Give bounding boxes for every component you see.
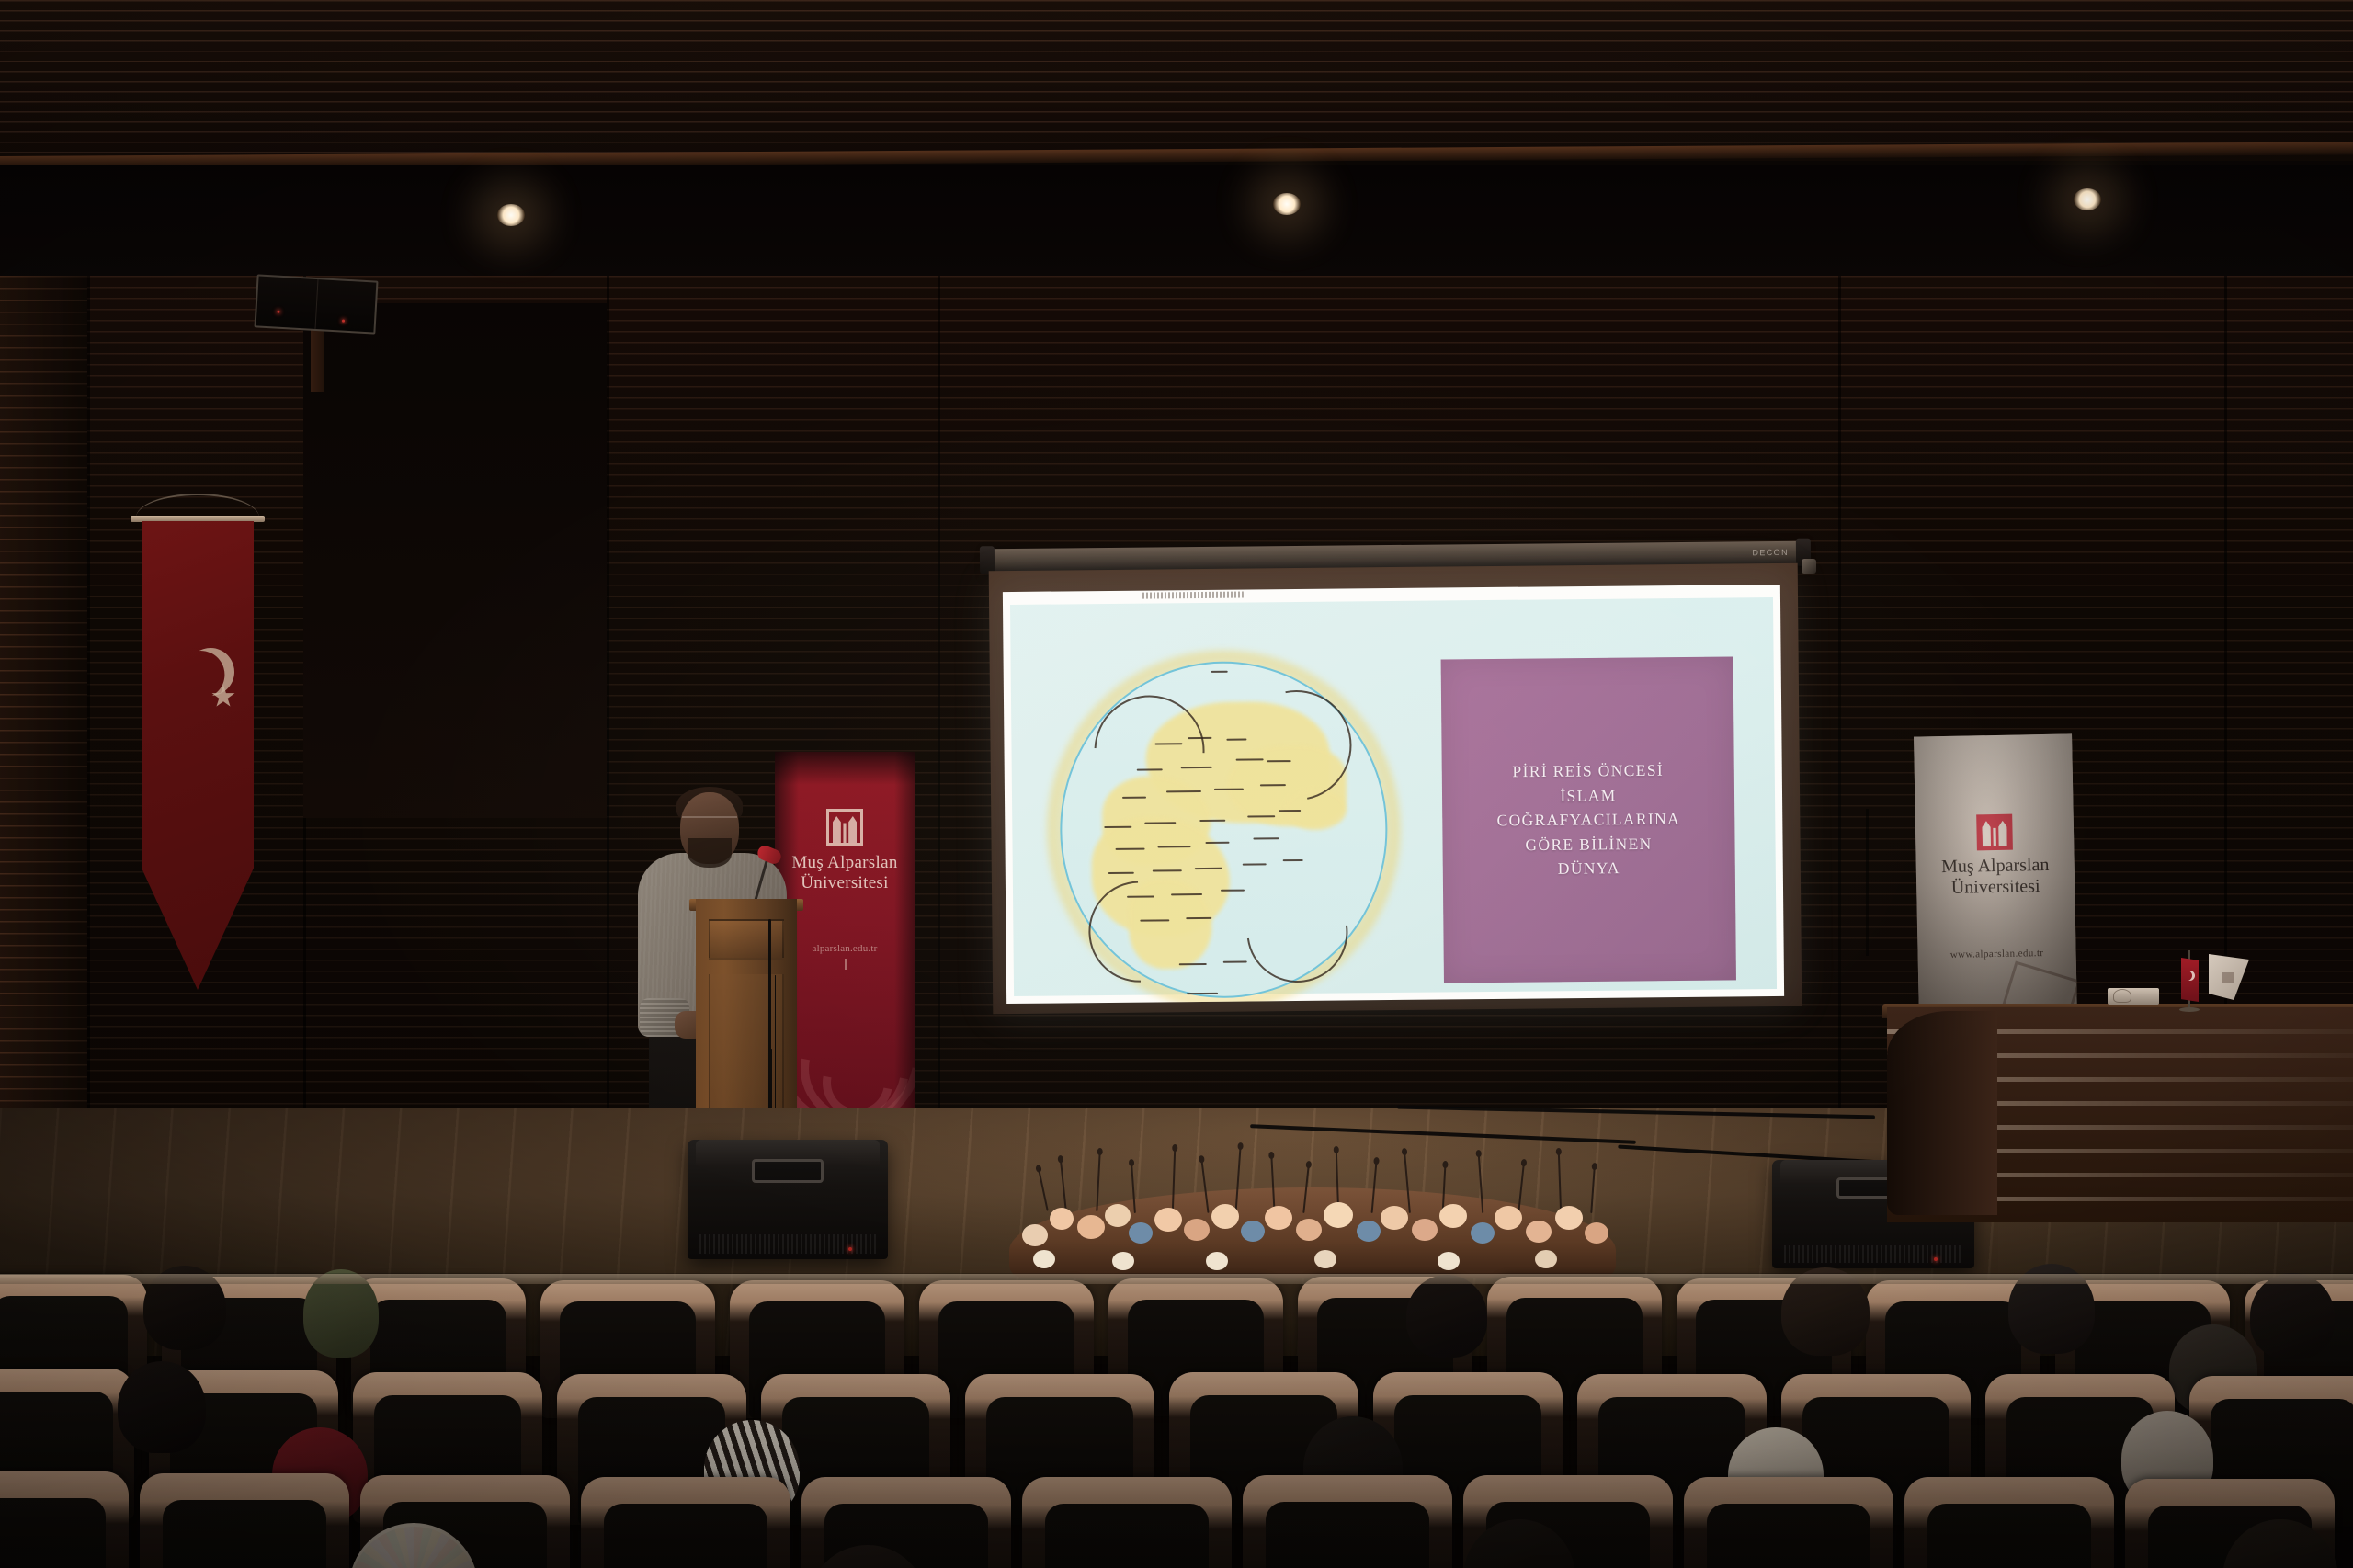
seat[interactable] <box>140 1473 349 1568</box>
flag-hanging-cord <box>136 494 259 517</box>
seat[interactable] <box>0 1471 129 1568</box>
flower-bloom <box>1412 1219 1438 1241</box>
panel-seam <box>314 279 318 329</box>
map-annotation <box>1214 789 1244 790</box>
flower-bloom <box>1381 1206 1408 1230</box>
map-annotation <box>1188 737 1211 739</box>
slide-top-artifact <box>1142 592 1244 599</box>
map-annotation <box>1158 846 1191 847</box>
seat[interactable] <box>1243 1475 1452 1568</box>
crescent-icon <box>181 642 240 701</box>
slide-title-line-2: İSLAM <box>1442 782 1734 810</box>
map-annotation <box>1195 868 1222 869</box>
audience-head <box>1406 1275 1487 1358</box>
ceiling-wood-slats <box>0 0 2353 161</box>
crest-icon <box>2113 989 2131 1003</box>
flower-bloom <box>1265 1206 1292 1230</box>
seat[interactable] <box>801 1477 1011 1568</box>
map-annotation <box>1279 810 1301 812</box>
map-annotation <box>1221 890 1245 892</box>
flower-bloom <box>1105 1204 1131 1227</box>
seat[interactable] <box>1022 1477 1232 1568</box>
wall-seam <box>87 276 90 1131</box>
map-annotation <box>1104 826 1131 828</box>
flower-bloom <box>1033 1250 1055 1268</box>
slide-canvas: PİRİ REİS ÖNCESİ İSLAM COĞRAFYACILARINA … <box>1010 597 1777 996</box>
map-annotation <box>1236 758 1264 760</box>
audience-head <box>2250 1273 2335 1359</box>
panel-led-indicator <box>342 320 345 323</box>
housing-end-cap <box>980 546 995 574</box>
flower-bloom <box>1050 1208 1074 1230</box>
desk-flag-base <box>2179 1007 2200 1012</box>
map-annotation <box>1223 961 1247 963</box>
flower-bloom <box>1314 1250 1336 1268</box>
flower-bloom <box>1184 1219 1210 1241</box>
flower-bloom <box>1357 1221 1381 1242</box>
wall-cable <box>1866 809 1869 956</box>
flower-bloom <box>1526 1221 1552 1243</box>
flower-bloom <box>1471 1222 1495 1244</box>
map-annotation <box>1154 743 1182 744</box>
slide-title-line-1: PİRİ REİS ÖNCESİ <box>1442 757 1734 785</box>
desk-flag-turkish <box>2181 958 2199 1002</box>
map-annotation <box>1283 859 1303 861</box>
flower-bloom <box>1296 1219 1322 1241</box>
glasses-icon <box>682 816 737 826</box>
microphone-cable <box>768 919 771 1140</box>
slide-title-block: PİRİ REİS ÖNCESİ İSLAM COĞRAFYACILARINA … <box>1441 656 1736 983</box>
flower-bloom <box>1535 1250 1557 1268</box>
flower-bloom <box>1555 1206 1583 1230</box>
map-annotation <box>1243 863 1267 865</box>
seat[interactable] <box>1684 1477 1893 1568</box>
ceiling-recess <box>0 165 2353 285</box>
ceiling-spotlight <box>1273 193 1301 215</box>
map-annotation <box>1186 917 1211 919</box>
flower-bloom <box>1154 1208 1182 1232</box>
flower-bloom <box>1022 1224 1048 1246</box>
map-annotation <box>1122 797 1146 799</box>
ceiling-spotlight <box>497 204 525 226</box>
map-annotation <box>1171 893 1202 895</box>
panel-led-indicator <box>277 311 279 313</box>
wall-seam <box>1838 276 1841 1131</box>
desk-curved-end <box>1887 1011 1997 1215</box>
banner-tick <box>845 959 847 970</box>
map-annotation <box>1253 837 1279 839</box>
projector-screen-brand: DECON <box>1752 548 1789 557</box>
flower-bloom <box>1206 1252 1228 1270</box>
audience-head <box>118 1361 206 1453</box>
banner-white-university: Muş Alparslan Üniversitesi www.alparslan… <box>1914 733 2077 1021</box>
presenter-beard <box>688 838 732 868</box>
wall-av-panel <box>254 274 378 334</box>
map-annotation <box>1166 790 1201 792</box>
seat[interactable] <box>581 1477 790 1568</box>
map-annotation <box>1267 760 1291 762</box>
projector-mount-icon <box>1802 559 1816 574</box>
wall-seam <box>2224 276 2227 1131</box>
turkish-flag-pennant <box>129 494 267 1008</box>
podium-front-panel <box>709 919 784 960</box>
map-annotation <box>1199 820 1225 822</box>
flower-bloom <box>1439 1204 1467 1228</box>
flower-bloom <box>1211 1204 1239 1229</box>
map-annotation <box>1181 767 1212 768</box>
audience-seating <box>0 1273 2353 1568</box>
wall-seam <box>607 276 609 1131</box>
slide-title-text: PİRİ REİS ÖNCESİ İSLAM COĞRAFYACILARINA … <box>1442 757 1735 882</box>
flower-bloom <box>1112 1252 1134 1270</box>
map-annotation <box>1140 919 1169 921</box>
slide-title-line-5: DÜNYA <box>1443 855 1735 882</box>
flower-bloom <box>1241 1221 1265 1242</box>
slide-title-line-3: COĞRAFYACILARINA <box>1442 806 1734 834</box>
stage-monitor-speaker <box>688 1140 888 1259</box>
stage-front-edge <box>0 1274 2353 1284</box>
flower-bloom <box>1077 1215 1105 1239</box>
map-annotation <box>1108 872 1134 874</box>
flower-bloom <box>1585 1222 1608 1244</box>
wall-recess <box>303 303 607 818</box>
flower-bloom <box>1129 1222 1153 1244</box>
map-annotation <box>1226 739 1246 741</box>
map-annotation <box>1211 671 1228 673</box>
wall-panel-mount <box>311 329 324 392</box>
desk-plaque-box <box>2108 988 2159 1005</box>
islamic-world-map-illustration <box>1046 649 1403 1004</box>
flower-bloom <box>1438 1252 1460 1270</box>
seat[interactable] <box>1904 1477 2114 1568</box>
crescent-icon <box>2185 971 2195 981</box>
map-annotation <box>1187 993 1218 994</box>
projected-slide: PİRİ REİS ÖNCESİ İSLAM COĞRAFYACILARINA … <box>1003 585 1784 1004</box>
university-logo-icon <box>2222 972 2234 983</box>
speaker-handle <box>752 1159 824 1183</box>
flag-rod <box>131 516 265 522</box>
map-annotation <box>1144 822 1176 824</box>
map-annotation <box>1116 848 1145 850</box>
map-annotation <box>1247 815 1275 817</box>
map-annotation <box>1205 842 1229 844</box>
flower-bloom <box>1495 1206 1522 1230</box>
map-annotation <box>1137 768 1163 770</box>
left-wall-panel <box>0 276 87 1204</box>
auditorium-scene: Muş Alparslan Üniversitesi alparslan.edu… <box>0 0 2353 1568</box>
floral-arrangement <box>1009 1147 1616 1278</box>
map-annotation <box>1179 963 1207 965</box>
map-annotation <box>1127 896 1154 898</box>
ceiling-spotlight <box>2074 188 2101 210</box>
university-logo-icon <box>826 809 863 846</box>
map-annotation <box>1260 784 1286 786</box>
slide-title-line-4: GÖRE BİLİNEN <box>1442 831 1734 858</box>
map-annotation <box>1153 869 1182 871</box>
flower-bloom <box>1324 1202 1353 1228</box>
wall-seam <box>938 276 940 1131</box>
flag-cloth <box>142 521 254 990</box>
